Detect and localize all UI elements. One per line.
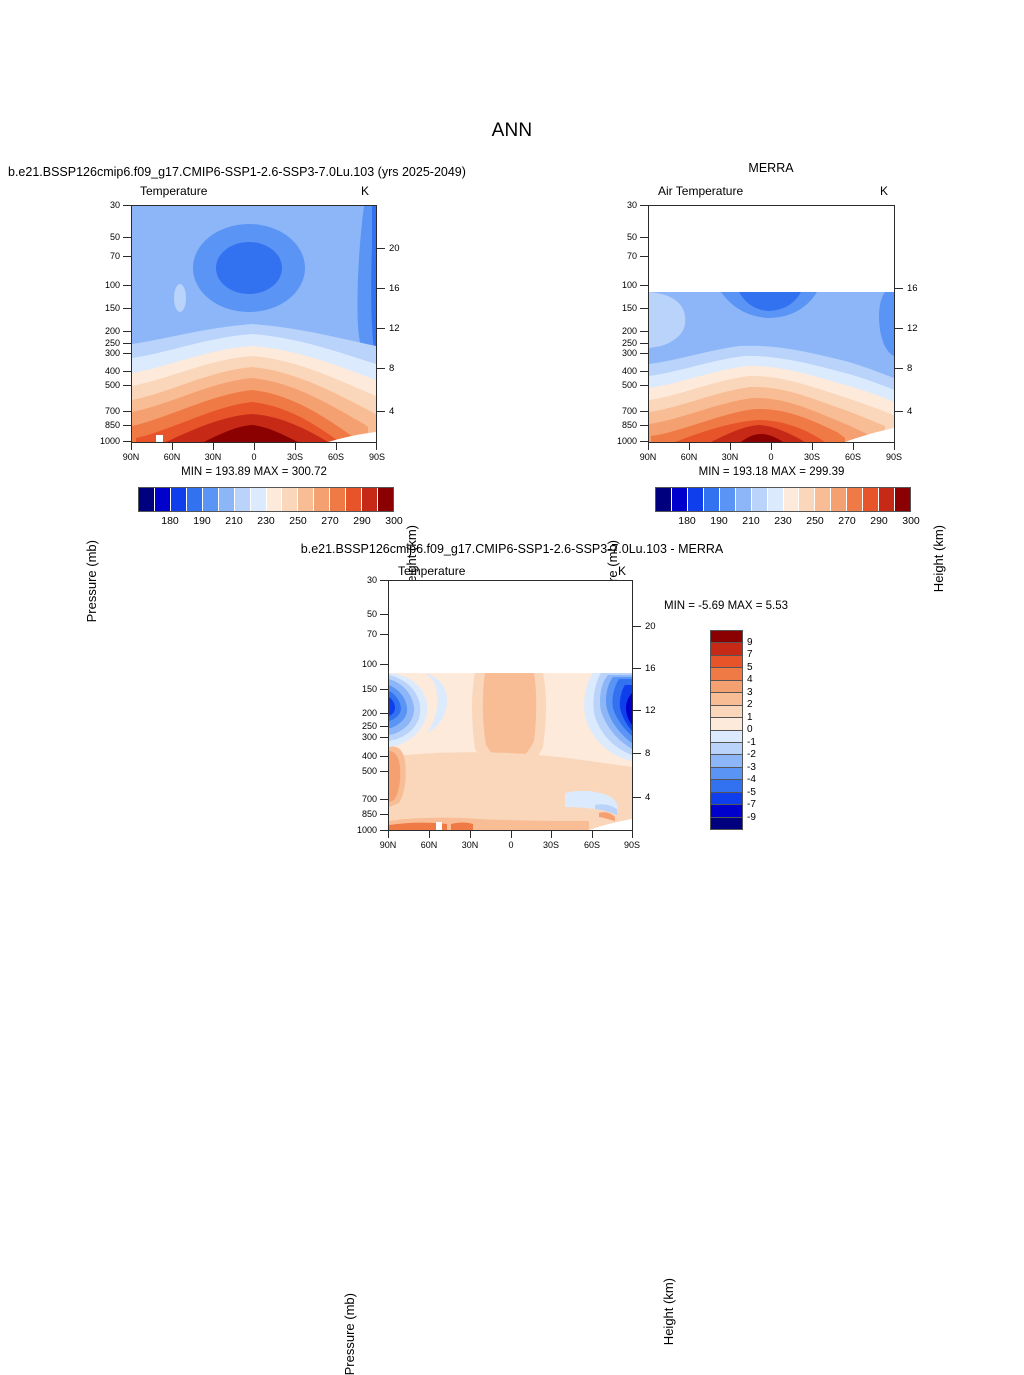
cb-label: 300 [895, 516, 927, 527]
cb-label: 250 [282, 516, 314, 527]
colorbar-cell [711, 755, 742, 767]
panel-obs-xtick-60N: 60N [674, 453, 704, 462]
colorbar-cell [139, 488, 155, 511]
panel-obs-ytick-70: 70 [615, 252, 637, 261]
colorbar-cell [155, 488, 171, 511]
panel-model-ytick-850: 850 [94, 421, 120, 430]
panel-difference-htick-12: 12 [645, 706, 656, 716]
cbv-label: 5 [747, 663, 753, 673]
colorbar-cell [711, 780, 742, 792]
panel-obs-ytick-50: 50 [615, 233, 637, 242]
cb-label: 290 [863, 516, 895, 527]
cbv-label: 7 [747, 650, 753, 660]
panel-obs-contour-field [649, 206, 894, 442]
panel-obs-htick-12: 12 [907, 324, 918, 334]
colorbar-cell [711, 693, 742, 705]
panel-difference-xtick-30S: 30S [536, 841, 566, 850]
colorbar-cell [378, 488, 393, 511]
cbv-label: -5 [747, 788, 756, 798]
colorbar-cell [799, 488, 815, 511]
cb-label: 190 [186, 516, 218, 527]
panel-difference-ytick-400: 400 [351, 752, 377, 761]
colorbar-cell [251, 488, 267, 511]
colorbar-cell [720, 488, 736, 511]
panel-difference-ytick-200: 200 [351, 709, 377, 718]
panel-model-xtick-90N: 90N [116, 453, 146, 462]
colorbar-cell [711, 656, 742, 668]
cb-label: 270 [314, 516, 346, 527]
panel-difference-xtick-60N: 60N [414, 841, 444, 850]
colorbar-cell [711, 793, 742, 805]
panel-obs-htick-4: 4 [907, 407, 912, 417]
panel-obs-ytick-100: 100 [611, 281, 637, 290]
cbv-label: 4 [747, 675, 753, 685]
panel-difference-ytick-1000: 1000 [347, 826, 377, 835]
cb-label: 180 [154, 516, 186, 527]
colorbar-cell [711, 731, 742, 743]
panel-obs-xtick-30S: 30S [797, 453, 827, 462]
panel-difference-htick-8: 8 [645, 749, 650, 759]
panel-difference-htick-20: 20 [645, 622, 656, 632]
panel-difference-colorbar[interactable] [710, 630, 743, 830]
panel-model-xtick-30S: 30S [280, 453, 310, 462]
panel-obs-colorbar[interactable] [655, 487, 911, 512]
cbv-label: -9 [747, 813, 756, 823]
colorbar-cell [672, 488, 688, 511]
panel-model-ytick-200: 200 [94, 327, 120, 336]
colorbar-cell [298, 488, 314, 511]
panel-obs-ytick-500: 500 [611, 381, 637, 390]
panel-difference-ytick-150: 150 [351, 685, 377, 694]
colorbar-cell [219, 488, 235, 511]
panel-difference-case-title: b.e21.BSSP126cmip6.f09_g17.CMIP6-SSP1-2.… [0, 542, 1024, 556]
panel-model-ytick-250: 250 [94, 339, 120, 348]
panel-model-htick-4: 4 [389, 407, 394, 417]
panel-model-plot-area[interactable] [131, 205, 377, 443]
panel-difference-xtick-90N: 90N [373, 841, 403, 850]
colorbar-cell [203, 488, 219, 511]
panel-obs-ytick-400: 400 [611, 367, 637, 376]
cb-label: 250 [799, 516, 831, 527]
panel-model-ytick-700: 700 [94, 407, 120, 416]
panel-difference-xtick-0: 0 [496, 841, 526, 850]
panel-difference-pressure-axis-label: Pressure (mb) [342, 1293, 357, 1375]
cbv-label: -7 [747, 800, 756, 810]
cb-label: 270 [831, 516, 863, 527]
panel-obs-ytick-250: 250 [611, 339, 637, 348]
panel-difference-unit-label: K [618, 564, 626, 578]
panel-model-ytick-100: 100 [94, 281, 120, 290]
cbv-label: -4 [747, 775, 756, 785]
panel-obs: MERRA Air Temperature K Pressure (mb) He… [512, 160, 1024, 540]
panel-difference-ytick-30: 30 [355, 576, 377, 585]
colorbar-cell [895, 488, 910, 511]
panel-model-unit-label: K [361, 184, 369, 198]
panel-difference-height-axis-label: Height (km) [661, 1278, 676, 1345]
colorbar-cell [863, 488, 879, 511]
panel-difference-ytick-850: 850 [351, 810, 377, 819]
panel-difference-ytick-500: 500 [351, 767, 377, 776]
panel-model-htick-16: 16 [389, 284, 400, 294]
panel-difference-ytick-300: 300 [351, 733, 377, 742]
cb-label: 230 [767, 516, 799, 527]
panel-model-ytick-300: 300 [94, 349, 120, 358]
cbv-label: 9 [747, 638, 753, 648]
colorbar-cell [768, 488, 784, 511]
panel-model-xtick-90S: 90S [362, 453, 392, 462]
colorbar-cell [267, 488, 283, 511]
panel-model-ytick-400: 400 [94, 367, 120, 376]
colorbar-cell [879, 488, 895, 511]
colorbar-cell [847, 488, 863, 511]
panel-obs-unit-label: K [880, 184, 888, 198]
panel-obs-ytick-300: 300 [611, 349, 637, 358]
cb-label: 180 [671, 516, 703, 527]
colorbar-cell [711, 818, 742, 829]
cb-label: 290 [346, 516, 378, 527]
colorbar-cell [815, 488, 831, 511]
panel-model-ytick-500: 500 [94, 381, 120, 390]
panel-difference-contour-field [389, 581, 632, 830]
colorbar-cell [711, 805, 742, 817]
cb-label: 210 [218, 516, 250, 527]
panel-model-ytick-70: 70 [98, 252, 120, 261]
cb-label: 300 [378, 516, 410, 527]
cbv-label: 1 [747, 713, 753, 723]
colorbar-cell [656, 488, 672, 511]
colorbar-cell [330, 488, 346, 511]
colorbar-cell [711, 718, 742, 730]
panel-difference-minmax: MIN = -5.69 MAX = 5.53 [664, 600, 788, 612]
panel-model-xtick-30N: 30N [198, 453, 228, 462]
panel-model-xtick-60S: 60S [321, 453, 351, 462]
colorbar-cell [784, 488, 800, 511]
panel-difference: b.e21.BSSP126cmip6.f09_g17.CMIP6-SSP1-2.… [0, 538, 1024, 868]
panel-difference-xtick-30N: 30N [455, 841, 485, 850]
panel-model-colorbar[interactable] [138, 487, 394, 512]
panel-obs-xtick-90N: 90N [633, 453, 663, 462]
cbv-label: 2 [747, 700, 753, 710]
panel-difference-ytick-50: 50 [355, 610, 377, 619]
panel-obs-ytick-700: 700 [611, 407, 637, 416]
panel-difference-ytick-700: 700 [351, 795, 377, 804]
colorbar-cell [688, 488, 704, 511]
colorbar-cell [187, 488, 203, 511]
panel-obs-ytick-1000: 1000 [607, 437, 637, 446]
panel-obs-xtick-90S: 90S [879, 453, 909, 462]
panel-model-xtick-60N: 60N [157, 453, 187, 462]
panel-model: b.e21.BSSP126cmip6.f09_g17.CMIP6-SSP1-2.… [0, 160, 512, 540]
colorbar-cell [346, 488, 362, 511]
colorbar-cell [711, 743, 742, 755]
panel-obs-case-title: MERRA [648, 161, 894, 175]
panel-difference-htick-4: 4 [645, 793, 650, 803]
panel-model-xtick-0: 0 [239, 453, 269, 462]
cb-label: 210 [735, 516, 767, 527]
panel-model-htick-8: 8 [389, 364, 394, 374]
cbv-label: 0 [747, 725, 753, 735]
panel-model-case-title: b.e21.BSSP126cmip6.f09_g17.CMIP6-SSP1-2.… [8, 165, 466, 179]
panel-difference-xtick-60S: 60S [577, 841, 607, 850]
panel-model-contour-field [132, 206, 376, 442]
panel-obs-plot-area[interactable] [648, 205, 895, 443]
colorbar-cell [831, 488, 847, 511]
panel-obs-htick-8: 8 [907, 364, 912, 374]
panel-model-ytick-50: 50 [98, 233, 120, 242]
panel-difference-htick-16: 16 [645, 664, 656, 674]
colorbar-cell [711, 768, 742, 780]
colorbar-cell [711, 668, 742, 680]
panel-obs-xtick-0: 0 [756, 453, 786, 462]
panel-difference-plot-area[interactable] [388, 580, 633, 831]
panel-model-ytick-1000: 1000 [90, 437, 120, 446]
panel-model-htick-20: 20 [389, 244, 400, 254]
panel-model-ytick-150: 150 [94, 304, 120, 313]
colorbar-cell [736, 488, 752, 511]
panel-obs-ytick-850: 850 [611, 421, 637, 430]
panel-model-htick-12: 12 [389, 324, 400, 334]
panel-difference-ytick-100: 100 [351, 660, 377, 669]
colorbar-cell [235, 488, 251, 511]
colorbar-cell [711, 631, 742, 643]
panel-difference-ytick-70: 70 [355, 630, 377, 639]
colorbar-cell [711, 643, 742, 655]
colorbar-cell [314, 488, 330, 511]
panel-obs-variable-label: Air Temperature [658, 184, 743, 198]
cbv-label: -2 [747, 750, 756, 760]
figure-title: ANN [0, 120, 1024, 142]
colorbar-cell [362, 488, 378, 511]
panel-obs-htick-16: 16 [907, 284, 918, 294]
panel-model-minmax: MIN = 193.89 MAX = 300.72 [131, 466, 377, 478]
panel-model-ytick-30: 30 [98, 201, 120, 210]
panel-difference-ytick-250: 250 [351, 722, 377, 731]
colorbar-cell [711, 706, 742, 718]
cbv-label: -3 [747, 763, 756, 773]
cbv-label: -1 [747, 738, 756, 748]
cbv-label: 3 [747, 688, 753, 698]
panel-obs-ytick-150: 150 [611, 304, 637, 313]
panel-obs-xtick-60S: 60S [838, 453, 868, 462]
colorbar-cell [704, 488, 720, 511]
panel-difference-variable-label: Temperature [398, 564, 465, 578]
colorbar-cell [752, 488, 768, 511]
panel-obs-xtick-30N: 30N [715, 453, 745, 462]
cb-label: 230 [250, 516, 282, 527]
panel-obs-ytick-30: 30 [615, 201, 637, 210]
colorbar-cell [282, 488, 298, 511]
colorbar-cell [171, 488, 187, 511]
panel-difference-xtick-90S: 90S [617, 841, 647, 850]
panel-model-variable-label: Temperature [140, 184, 207, 198]
cb-label: 190 [703, 516, 735, 527]
panel-obs-ytick-200: 200 [611, 327, 637, 336]
colorbar-cell [711, 681, 742, 693]
panel-obs-minmax: MIN = 193.18 MAX = 299.39 [648, 466, 895, 478]
